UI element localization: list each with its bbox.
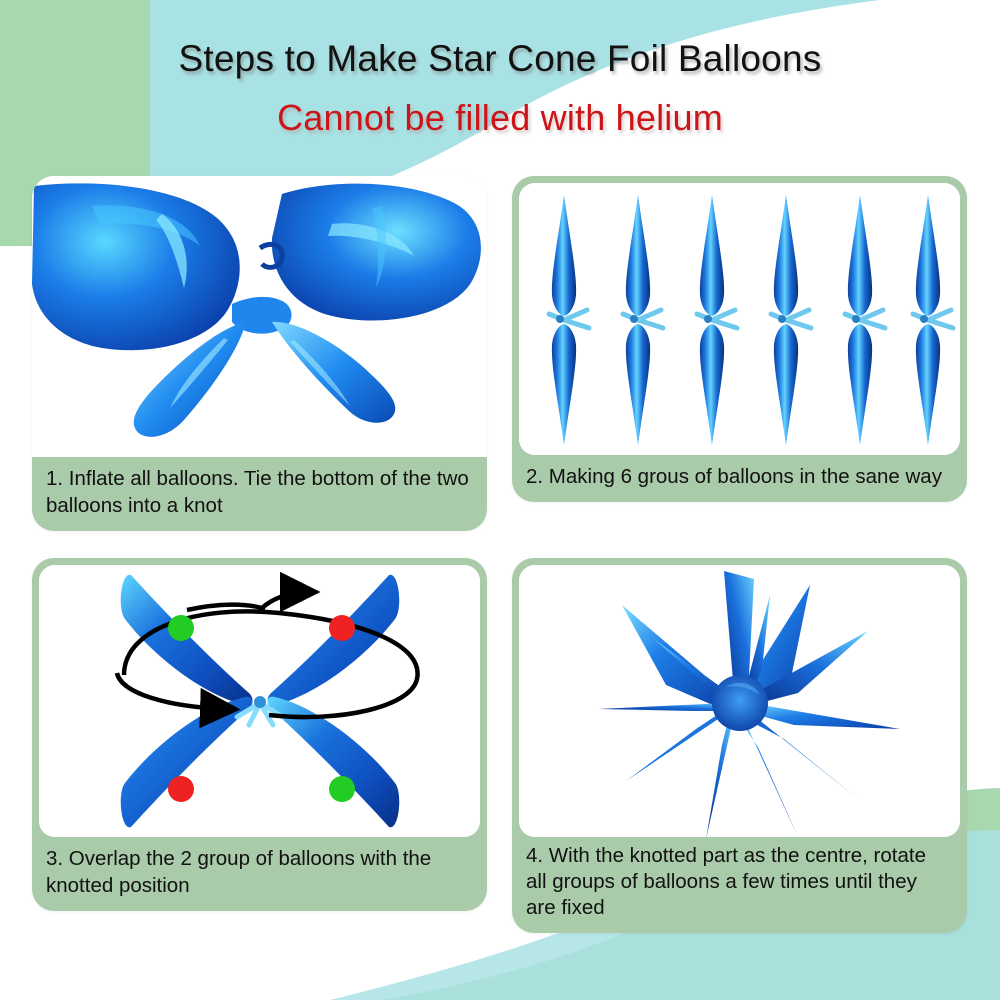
step-4-image [519, 565, 960, 837]
knot-center-dot [254, 696, 266, 708]
warning-subtitle: Cannot be filled with helium [0, 97, 1000, 139]
step-3-caption: 3. Overlap the 2 group of balloons with … [32, 837, 487, 911]
balloon-right [272, 184, 481, 321]
step-2-caption: 2. Making 6 grous of balloons in the san… [512, 455, 967, 502]
step-2-image [519, 183, 960, 455]
six-balloon-groups-photo [519, 183, 960, 455]
marker-red-bottom-left [168, 776, 194, 802]
step-1-caption: 1. Inflate all balloons. Tie the bottom … [32, 457, 487, 531]
step-panel-1: 1. Inflate all balloons. Tie the bottom … [32, 176, 487, 531]
step-3-image [39, 565, 480, 837]
page-title: Steps to Make Star Cone Foil Balloons [0, 38, 1000, 80]
marker-green-top-left [168, 615, 194, 641]
step-panel-2: 2. Making 6 grous of balloons in the san… [512, 176, 967, 502]
two-tied-foil-balloons-photo [32, 176, 487, 457]
step-1-image [32, 176, 487, 457]
marker-green-bottom-right [329, 776, 355, 802]
finished-star-cone-balloon-photo [519, 565, 960, 837]
overlapped-groups-diagram [39, 565, 480, 837]
steps-grid: 1. Inflate all balloons. Tie the bottom … [0, 176, 1000, 921]
step-panel-4: 4. With the knotted part as the centre, … [512, 558, 967, 933]
page-header: Steps to Make Star Cone Foil Balloons Ca… [0, 0, 1000, 160]
marker-red-top-right [329, 615, 355, 641]
step-4-caption: 4. With the knotted part as the centre, … [512, 837, 967, 933]
step-panel-3: 3. Overlap the 2 group of balloons with … [32, 558, 487, 911]
